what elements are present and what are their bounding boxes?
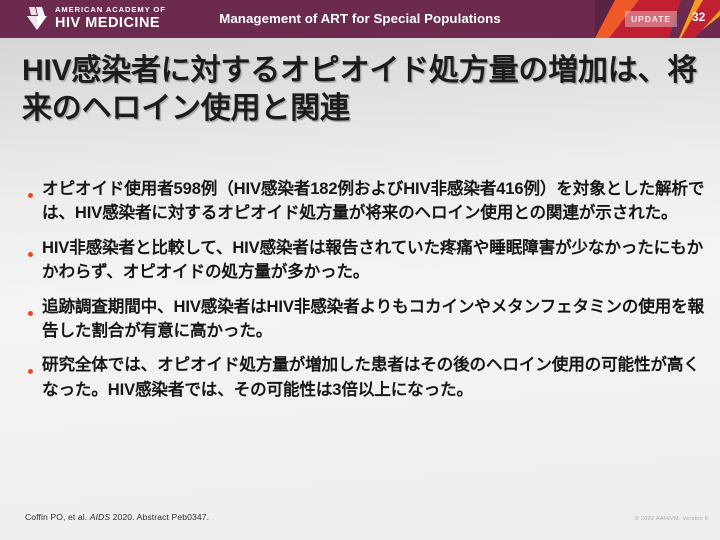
list-item: 研究全体では、オピオイド処方量が増加した患者はその後のヘロイン使用の可能性が高く… <box>18 353 708 402</box>
aahivm-mountain-logo-icon <box>26 5 48 31</box>
list-item: 追跡調査期間中、HIV感染者はHIV非感染者よりもコカインやメタンフェタミンの使… <box>18 295 708 344</box>
citation-details: 2020. Abstract Peb0347. <box>110 512 209 522</box>
update-badge: UPDATE <box>625 11 677 27</box>
bullet-text: 研究全体では、オピオイド処方量が増加した患者はその後のヘロイン使用の可能性が高く… <box>42 353 708 402</box>
logo-line-hiv-medicine: HIV MEDICINE <box>55 16 166 31</box>
citation-authors: Coffin PO, et al. <box>25 512 90 522</box>
copyright-notice: © 2022 AAHIVM. Version 6 <box>635 516 708 522</box>
citation-journal: AIDS <box>90 512 110 522</box>
slide-page-number: 32 <box>692 10 712 24</box>
bullet-text: 追跡調査期間中、HIV感染者はHIV非感染者よりもコカインやメタンフェタミンの使… <box>42 295 708 344</box>
bullet-dot-icon <box>18 236 42 262</box>
bullet-dot-icon <box>18 295 42 321</box>
bullet-text: オピオイド使用者598例（HIV感染者182例およびHIV非感染者416例）を対… <box>42 177 708 226</box>
citation: Coffin PO, et al. AIDS 2020. Abstract Pe… <box>25 512 209 522</box>
bullet-dot-icon <box>18 177 42 203</box>
logo-line-academy: AMERICAN ACADEMY OF <box>55 6 166 14</box>
bullet-dot-icon <box>18 353 42 379</box>
logo-wordmark: AMERICAN ACADEMY OF HIV MEDICINE <box>55 6 166 30</box>
list-item: オピオイド使用者598例（HIV感染者182例およびHIV非感染者416例）を対… <box>18 177 708 226</box>
slide-title: HIV感染者に対するオピオイド処方量の増加は、将来のヘロイン使用と関連 <box>22 52 702 129</box>
slide-header-bar: AMERICAN ACADEMY OF HIV MEDICINE Managem… <box>0 0 720 38</box>
bullet-list: オピオイド使用者598例（HIV感染者182例およびHIV非感染者416例）を対… <box>18 177 708 412</box>
bullet-text: HIV非感染者と比較して、HIV感染者は報告されていた疼痛や睡眠障害が少なかった… <box>42 236 708 285</box>
presentation-slide: AMERICAN ACADEMY OF HIV MEDICINE Managem… <box>0 0 720 540</box>
aahivm-logo: AMERICAN ACADEMY OF HIV MEDICINE <box>26 5 166 31</box>
list-item: HIV非感染者と比較して、HIV感染者は報告されていた疼痛や睡眠障害が少なかった… <box>18 236 708 285</box>
